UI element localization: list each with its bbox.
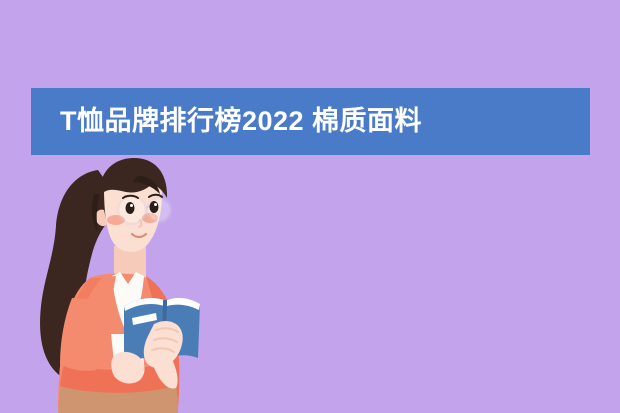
eye-right (150, 201, 159, 213)
eye-left (126, 202, 135, 214)
woman-reading-book-illustration (28, 158, 228, 413)
eye-highlight-left (130, 204, 133, 207)
title-banner: T恤品牌排行榜2022 棉质面料 (31, 88, 590, 155)
page-title: T恤品牌排行榜2022 棉质面料 (60, 107, 422, 137)
eye-highlight-right (154, 203, 157, 206)
image-card: T恤品牌排行榜2022 棉质面料 (0, 0, 620, 413)
